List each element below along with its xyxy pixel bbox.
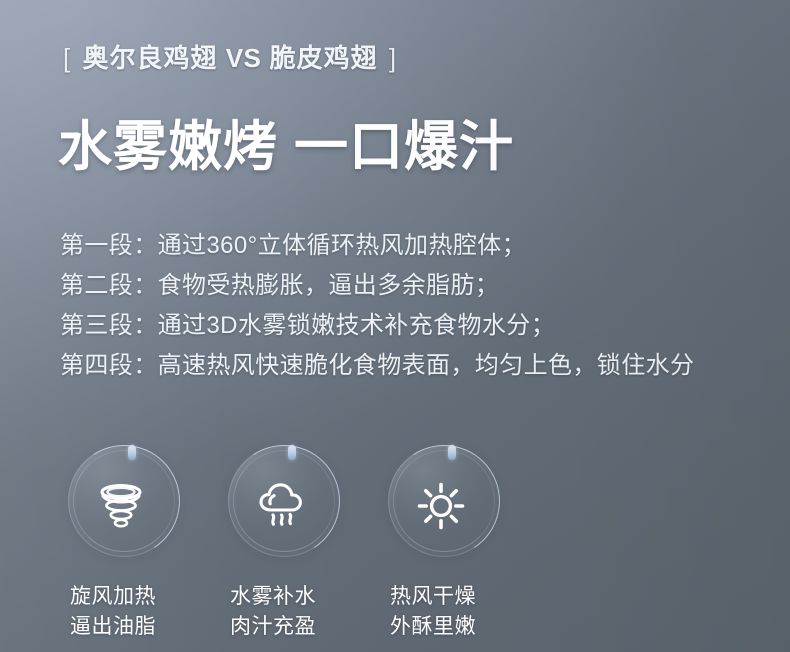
- list-item: 第二段：食物受热膨胀，逼出多余脂肪；: [60, 266, 694, 306]
- sun-icon: [410, 475, 472, 537]
- header-vs-label: VS: [226, 43, 262, 73]
- step-list: 第一段：通过360°立体循环热风加热腔体； 第二段：食物受热膨胀，逼出多余脂肪；…: [60, 226, 694, 386]
- glass-lens: [68, 445, 180, 557]
- bracket-close: ]: [386, 43, 400, 73]
- rain-cloud-icon: [250, 475, 312, 537]
- feature-badge-heating: 旋风加热 逼出油脂: [60, 440, 220, 640]
- caption-line-1: 热风干燥: [390, 582, 476, 612]
- bracket-open: [: [60, 43, 74, 73]
- step-label: 第四段：: [60, 352, 158, 379]
- feature-caption: 热风干燥 外酥里嫩: [390, 582, 476, 642]
- feature-caption: 水雾补水 肉汁充盈: [230, 582, 316, 642]
- lens-pin-icon: [288, 445, 296, 460]
- step-text: 通过3D水雾锁嫩技术补充食物水分；: [158, 312, 555, 339]
- header-text-right: 脆皮鸡翅: [270, 43, 378, 73]
- list-item: 第一段：通过360°立体循环热风加热腔体；: [60, 226, 694, 266]
- list-item: 第四段：高速热风快速脆化食物表面，均匀上色，锁住水分: [60, 346, 694, 386]
- caption-line-1: 旋风加热: [70, 582, 156, 612]
- tornado-icon: [90, 475, 152, 537]
- lens-pin-icon: [128, 445, 136, 460]
- feature-badge-mist: 水雾补水 肉汁充盈: [220, 440, 380, 640]
- feature-caption: 旋风加热 逼出油脂: [70, 582, 156, 642]
- caption-line-2: 逼出油脂: [70, 612, 156, 642]
- step-text: 食物受热膨胀，逼出多余脂肪；: [158, 272, 500, 299]
- step-label: 第三段：: [60, 312, 158, 339]
- glass-lens: [228, 445, 340, 557]
- step-label: 第一段：: [60, 232, 158, 259]
- header-text-left: 奥尔良鸡翅: [82, 43, 217, 73]
- list-item: 第三段：通过3D水雾锁嫩技术补充食物水分；: [60, 306, 694, 346]
- caption-line-2: 肉汁充盈: [230, 612, 316, 642]
- caption-line-1: 水雾补水: [230, 582, 316, 612]
- feature-badge-row: 旋风加热 逼出油脂 水雾补水 肉汁充: [60, 440, 560, 640]
- product-feature-poster: [ 奥尔良鸡翅 VS 脆皮鸡翅 ] 水雾嫩烤 一口爆汁 第一段：通过360°立体…: [0, 0, 790, 652]
- step-label: 第二段：: [60, 272, 158, 299]
- caption-line-2: 外酥里嫩: [390, 612, 476, 642]
- step-text: 高速热风快速脆化食物表面，均匀上色，锁住水分: [158, 352, 695, 379]
- feature-badge-drying: 热风干燥 外酥里嫩: [380, 440, 540, 640]
- page-title: 水雾嫩烤 一口爆汁: [58, 118, 514, 176]
- comparison-header: [ 奥尔良鸡翅 VS 脆皮鸡翅 ]: [60, 38, 400, 75]
- lens-pin-icon: [448, 445, 456, 460]
- glass-lens: [388, 445, 500, 557]
- step-text: 通过360°立体循环热风加热腔体；: [158, 232, 526, 259]
